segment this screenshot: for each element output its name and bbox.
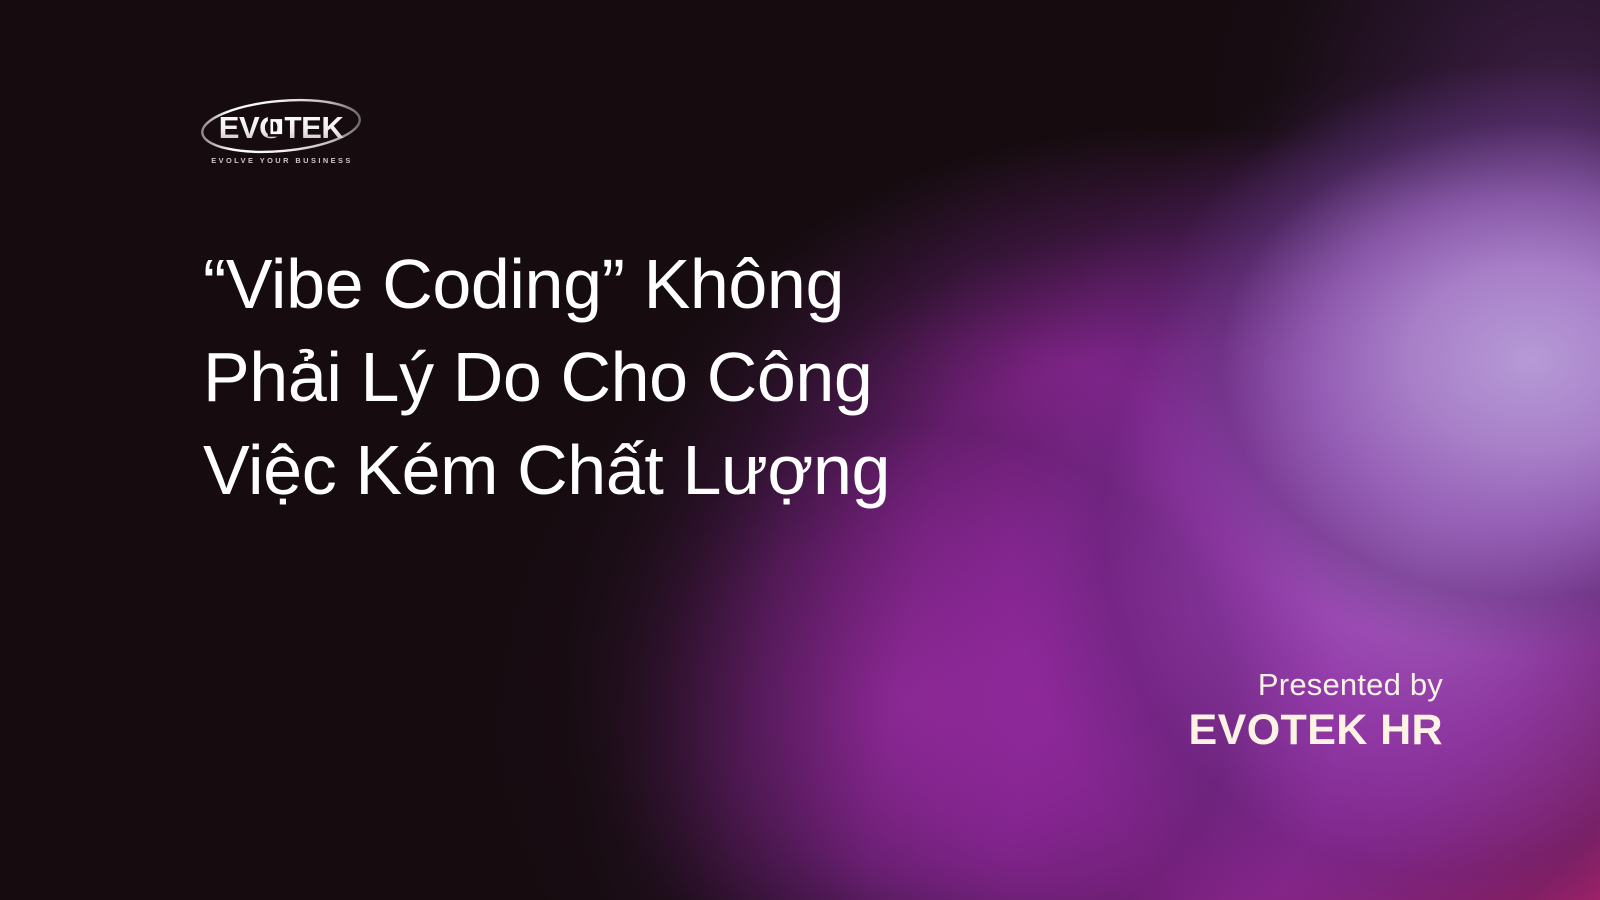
headline-line-1: “Vibe Coding” Không xyxy=(203,238,1083,331)
headline-line-2: Phải Lý Do Cho Công xyxy=(203,331,1083,424)
presenter-block: Presented by EVOTEK HR xyxy=(1189,665,1443,755)
evotek-logo: EVOTEK EVOLVE YOUR BUSINESS xyxy=(198,96,364,176)
title-slide: EVOTEK EVOLVE YOUR BUSINESS “Vibe Coding… xyxy=(0,0,1600,900)
headline-line-3: Việc Kém Chất Lượng xyxy=(203,424,1083,517)
evotek-logo-mark: EVOTEK xyxy=(198,96,364,156)
logo-tagline: EVOLVE YOUR BUSINESS xyxy=(204,156,360,165)
presented-by-label: Presented by xyxy=(1189,665,1443,705)
slide-headline: “Vibe Coding” Không Phải Lý Do Cho Công … xyxy=(203,238,1083,517)
presenter-name: EVOTEK HR xyxy=(1189,705,1443,755)
